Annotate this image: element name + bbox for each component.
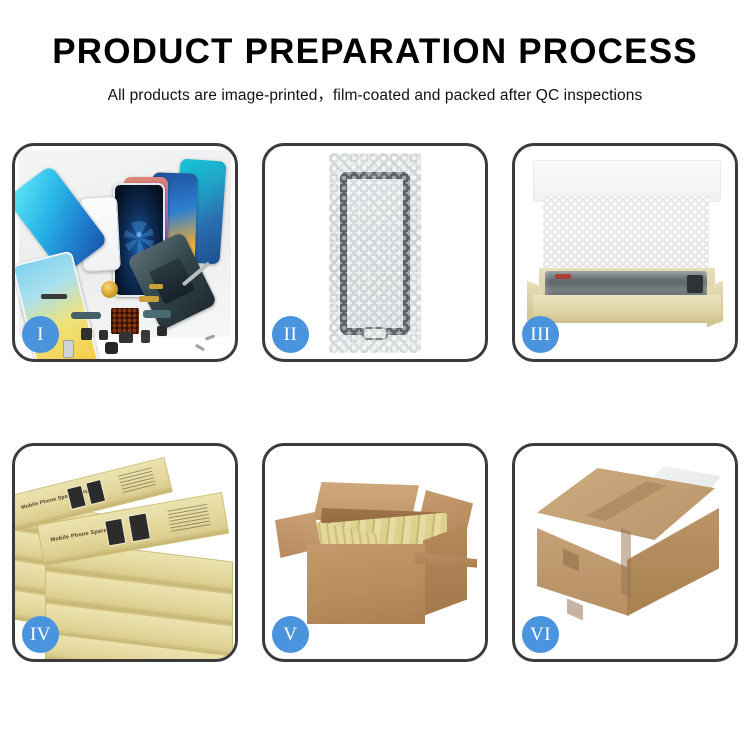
chip2-icon xyxy=(99,330,108,340)
box-spec-lines-2 xyxy=(167,504,210,533)
step-badge-4: IV xyxy=(22,616,59,653)
process-step-panel-5[interactable]: V xyxy=(262,443,488,662)
foam-padding-icon xyxy=(543,196,709,274)
phone-parts-backdrop xyxy=(19,150,231,337)
chip5-icon xyxy=(157,326,167,336)
carton-corner-seam-icon xyxy=(621,528,631,599)
box-screen-thumb-4 xyxy=(128,512,151,542)
process-step-panel-1[interactable]: I xyxy=(12,143,238,362)
process-step-panel-6[interactable]: VI xyxy=(512,443,738,662)
sim-tray-icon xyxy=(63,340,74,358)
process-step-panel-3[interactable]: III xyxy=(512,143,738,362)
screw-icon xyxy=(195,344,205,352)
flex-cable2-icon xyxy=(143,310,171,318)
process-step-panel-2[interactable]: II xyxy=(262,143,488,362)
box-spec-lines-1 xyxy=(118,467,155,493)
step-badge-5: V xyxy=(272,616,309,653)
screw2-icon xyxy=(205,334,215,340)
bubble-wrap-photo xyxy=(329,153,421,353)
step-badge-3: III xyxy=(522,316,559,353)
box-screen-thumb-2 xyxy=(85,479,106,505)
chip4-icon xyxy=(141,330,150,343)
home-button-icon xyxy=(362,327,388,340)
page-header: PRODUCT PREPARATION PROCESS All products… xyxy=(0,0,750,105)
carton-patch-bottom-icon xyxy=(567,598,583,620)
flex-cable-icon xyxy=(71,312,101,319)
box-front-panel-icon xyxy=(533,295,721,323)
sealed-carton-left-icon xyxy=(537,516,629,616)
page-subtitle: All products are image-printed，film-coat… xyxy=(0,83,750,105)
carton-front-panel-icon xyxy=(307,544,425,624)
step-badge-1: I xyxy=(22,316,59,353)
step-badge-6: VI xyxy=(522,616,559,653)
part-gold-bar-icon xyxy=(139,296,159,302)
wrapped-screen-icon xyxy=(340,172,410,335)
step-badge-2: II xyxy=(272,316,309,353)
camera-module-icon xyxy=(105,342,118,354)
process-step-panel-4[interactable]: Mobile Phone Spare Parts Mobile Phone Sp… xyxy=(12,443,238,662)
box-screen-thumb-3 xyxy=(104,518,126,547)
connector-grid-icon xyxy=(111,308,139,334)
chip3-icon xyxy=(119,332,133,343)
speaker-coil-icon xyxy=(101,281,118,298)
page-title: PRODUCT PREPARATION PROCESS xyxy=(0,34,750,71)
chip-icon xyxy=(81,328,92,340)
process-step-grid: I II III xyxy=(12,143,738,662)
part-bar-icon xyxy=(41,294,67,299)
part-gold-bar2-icon xyxy=(149,284,163,289)
packed-screen-icon xyxy=(545,271,707,297)
